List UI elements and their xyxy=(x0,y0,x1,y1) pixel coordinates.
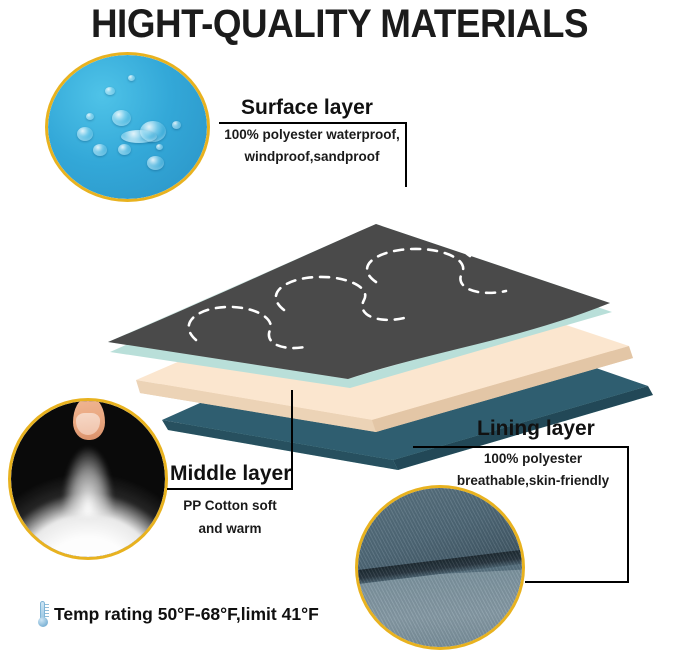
page-title: HIGHT-QUALITY MATERIALS xyxy=(27,2,652,47)
surface-layer-description-line-2: windproof,sandproof xyxy=(219,149,405,164)
thermometer-icon xyxy=(36,601,49,627)
surface-layer-description-line-1: 100% polyester waterproof, xyxy=(219,127,405,142)
middle-layer-photo xyxy=(8,398,168,560)
lining-layer-callout-box xyxy=(413,446,629,583)
middle-layer-heading: Middle layer xyxy=(170,462,291,486)
middle-layer-description-line-2: and warm xyxy=(163,521,297,536)
water-droplet-texture xyxy=(48,55,207,199)
middle-layer-description-line-1: PP Cotton soft xyxy=(163,498,297,513)
cotton-fiber-texture xyxy=(11,401,165,557)
lining-layer-connector-line xyxy=(525,581,629,583)
temp-rating-label: Temp rating 50°F-68°F,limit 41°F xyxy=(54,604,319,625)
lining-layer-description-line-2: breathable,skin-friendly xyxy=(438,473,628,488)
infographic-page: HIGHT-QUALITY MATERIALS xyxy=(0,0,679,653)
lining-layer-description-line-1: 100% polyester xyxy=(438,451,628,466)
surface-layer-heading: Surface layer xyxy=(241,96,373,120)
surface-layer-connector-line xyxy=(405,122,407,187)
lining-layer-heading: Lining layer xyxy=(477,417,595,441)
middle-layer-connector-line xyxy=(291,390,293,460)
temp-rating-row: Temp rating 50°F-68°F,limit 41°F xyxy=(36,601,319,627)
surface-layer-photo xyxy=(45,52,210,202)
